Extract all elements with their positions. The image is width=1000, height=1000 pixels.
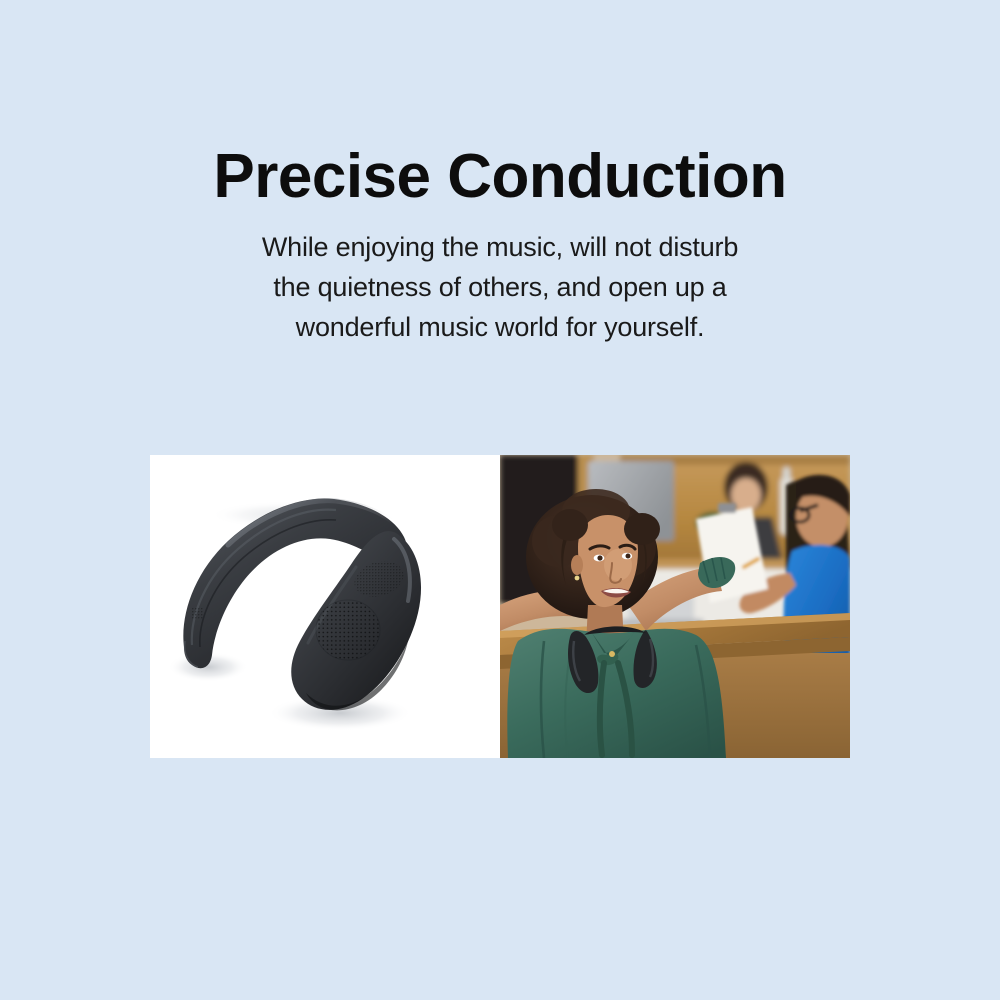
mic-grille-tip (192, 607, 203, 620)
marketing-banner: Precise Conduction While enjoying the mu… (0, 0, 1000, 1000)
office-lifestyle-photo (500, 455, 850, 758)
subtitle-line-3: wonderful music world for yourself. (200, 308, 800, 348)
heading-block: Precise Conduction While enjoying the mu… (0, 146, 1000, 348)
page-subtitle: While enjoying the music, will not distu… (200, 228, 800, 348)
collar-button (609, 651, 615, 657)
subtitle-line-2: the quietness of others, and open up a (200, 268, 800, 308)
subtitle-line-1: While enjoying the music, will not distu… (200, 228, 800, 268)
page-title: Precise Conduction (0, 146, 1000, 208)
lifestyle-image-panel (500, 455, 850, 758)
earring (575, 576, 580, 581)
product-image-panel (150, 455, 500, 758)
media-row (150, 455, 850, 758)
neckband-speaker-illustration (150, 455, 500, 758)
product-stage (150, 455, 500, 758)
